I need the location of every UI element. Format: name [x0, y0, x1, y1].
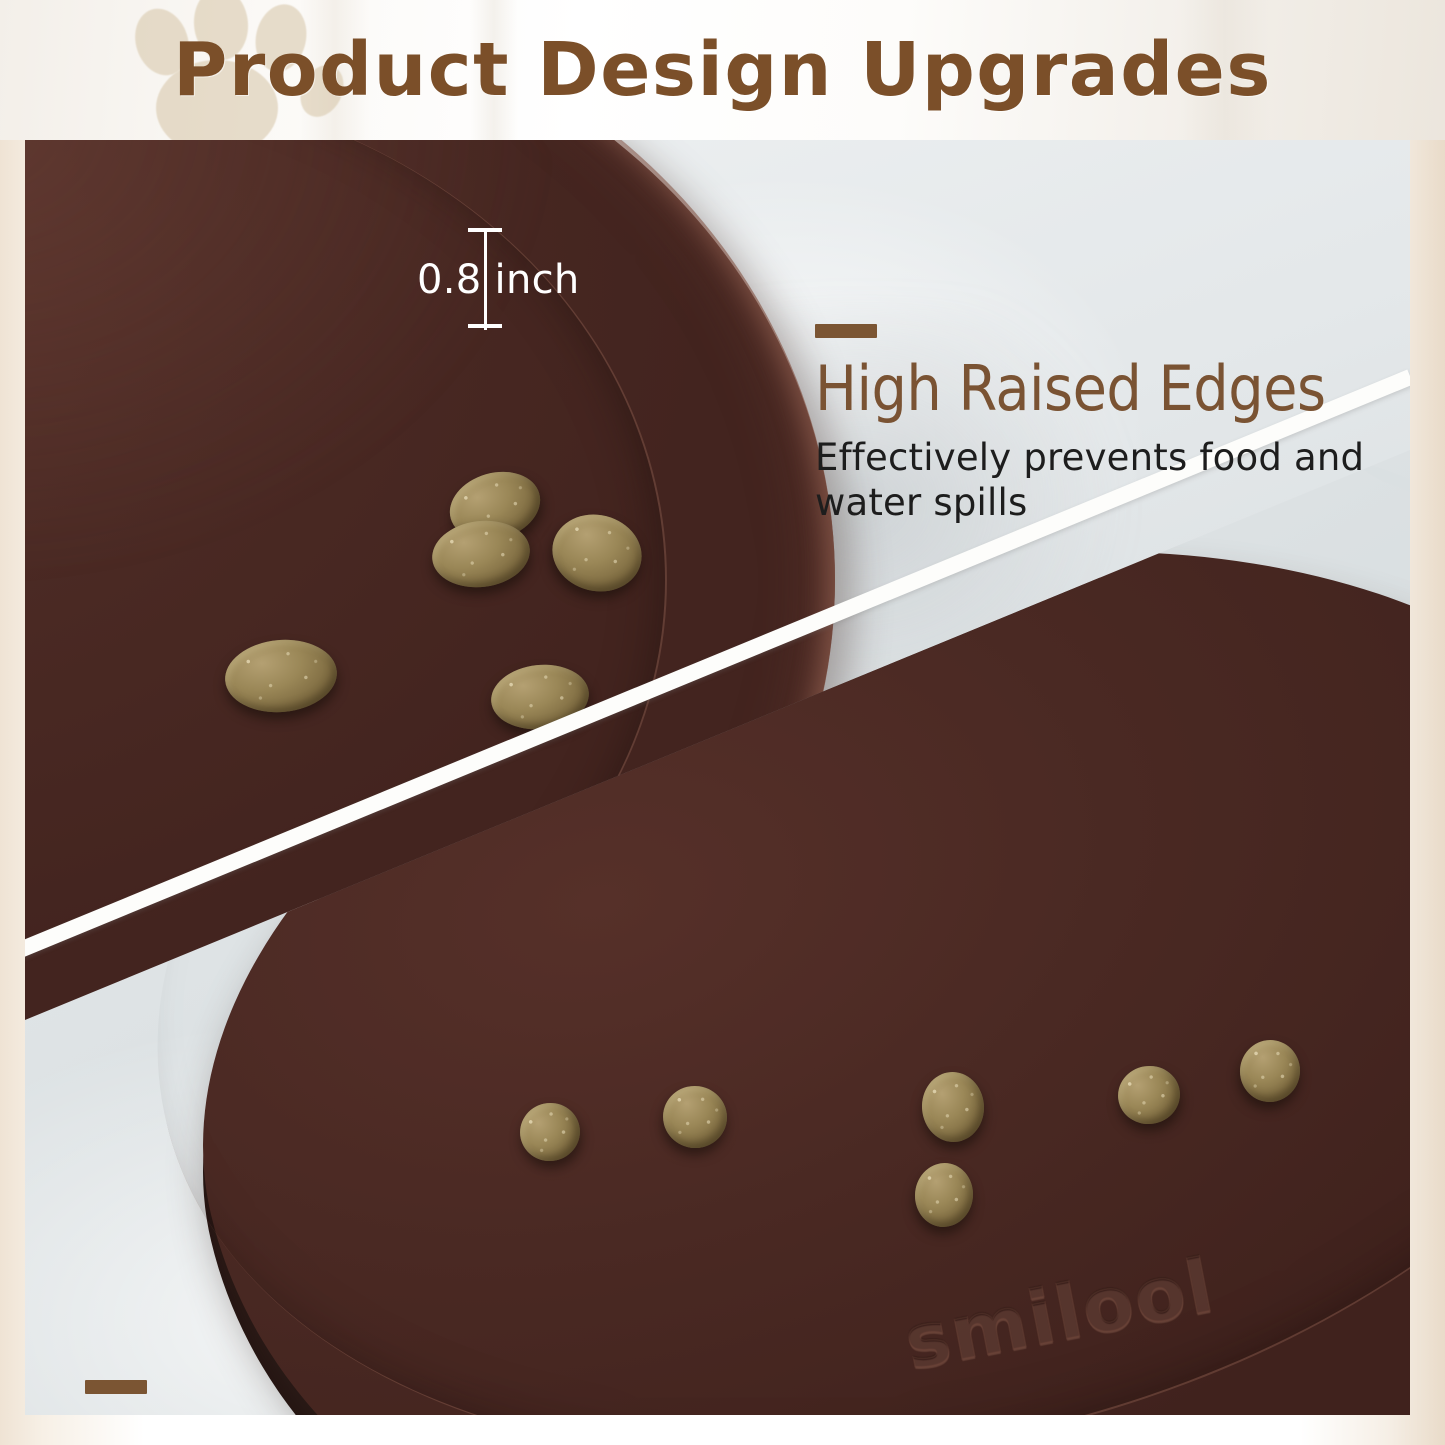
feature-heading-primary: Keeping the floor: [85, 1406, 571, 1415]
product-photo: 0.8 inch smilool High Raised Edges Effec…: [25, 140, 1410, 1415]
feature-heading: High Raised Edges: [815, 352, 1410, 425]
feature-block-keeping-floor-clean: Keeping the floor clean Minimizes time s…: [85, 1380, 1285, 1415]
dimension-cap-top: [468, 228, 502, 232]
page-title: Product Design Upgrades: [0, 0, 1445, 140]
feature-heading-accent: clean: [571, 1406, 719, 1415]
product-infographic: Product Design Upgrades 0.8 inch: [0, 0, 1445, 1445]
dimension-callout: 0.8 inch: [454, 226, 604, 336]
feature-subtext: Effectively prevents food and water spil…: [815, 435, 1410, 525]
dimension-cap-bottom: [468, 324, 502, 328]
header-banner: Product Design Upgrades: [0, 0, 1445, 140]
dimension-label: 0.8 inch: [417, 257, 580, 303]
feature-block-high-raised-edges: High Raised Edges Effectively prevents f…: [815, 324, 1410, 525]
feature-heading: Keeping the floor clean: [85, 1406, 1285, 1415]
accent-dash: [85, 1380, 147, 1394]
accent-dash: [815, 324, 877, 338]
